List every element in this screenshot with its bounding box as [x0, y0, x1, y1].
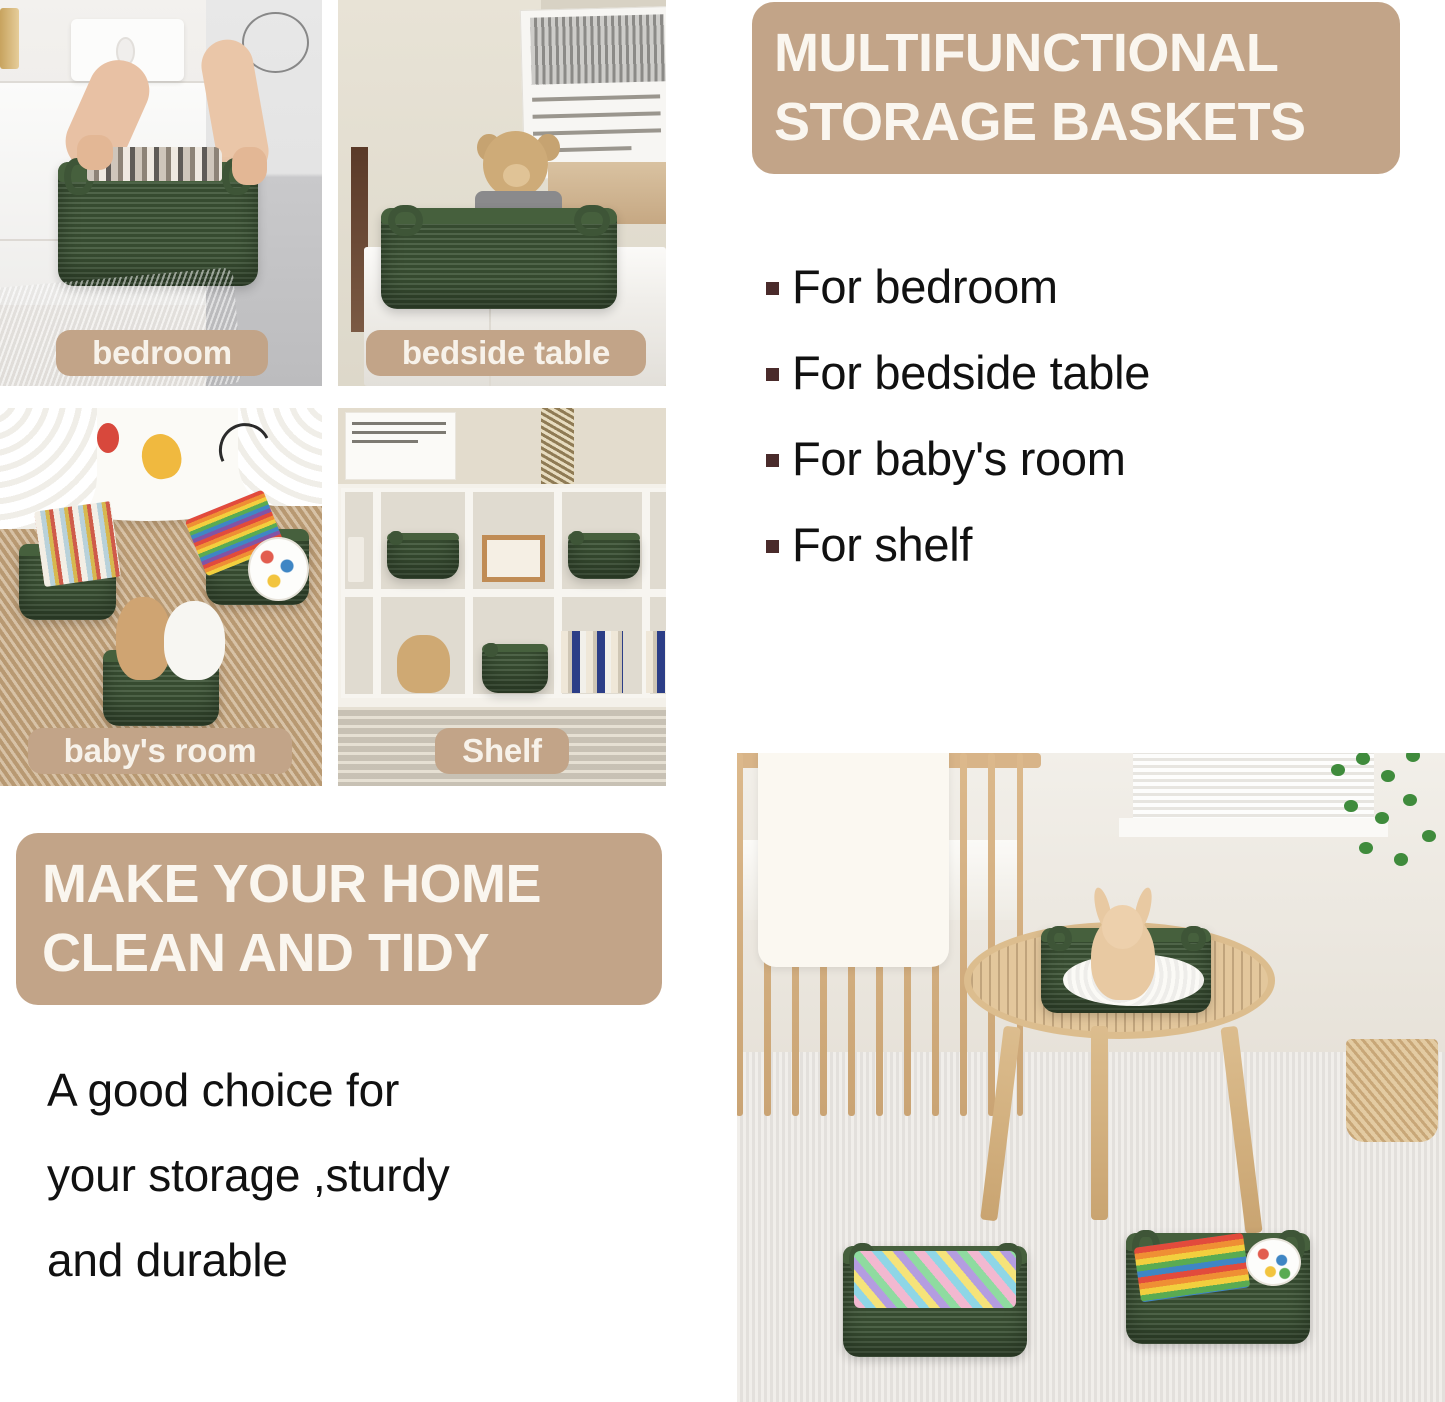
left-hand — [77, 135, 112, 170]
bullet-item-bedroom: For bedroom — [766, 243, 1406, 329]
secondary-heading-line-2: CLEAN AND TIDY — [42, 919, 636, 988]
bullet-label: For baby's room — [792, 435, 1126, 482]
photo-bedside-table — [338, 0, 666, 386]
basket-handle-right — [1181, 926, 1206, 951]
basket-handle-left — [484, 643, 498, 658]
caption-shelf: Shelf — [435, 728, 569, 774]
decorative-vase — [541, 408, 574, 484]
bullet-item-shelf: For shelf — [766, 501, 1406, 587]
plant-leaf — [1331, 764, 1345, 777]
infographic-page: bedroom — [0, 0, 1445, 1402]
secondary-heading-banner: MAKE YOUR HOME CLEAN AND TIDY — [16, 833, 662, 1005]
potted-plant — [1303, 753, 1445, 1039]
basket-handle-right — [574, 205, 609, 235]
photo-bedroom — [0, 0, 322, 386]
shelf-cube — [341, 593, 377, 698]
bullet-label: For bedroom — [792, 263, 1058, 310]
plant-leaf — [1375, 812, 1389, 825]
woven-plant-pot — [1346, 1039, 1438, 1143]
plant-leaf — [1359, 842, 1373, 855]
plush-bunny — [1091, 889, 1155, 999]
poster-text-line — [352, 422, 446, 425]
plant-leaf — [1344, 800, 1358, 813]
plant-leaf — [1394, 853, 1408, 866]
reed-diffuser — [348, 537, 364, 582]
plant-leaf — [1406, 753, 1420, 762]
basket-handle-left — [1047, 926, 1072, 951]
bear-muzzle — [503, 164, 531, 187]
green-storage-basket — [387, 533, 459, 580]
picture-books — [34, 501, 121, 587]
hero-scene — [737, 753, 1445, 1402]
main-heading-line-1: MULTIFUNCTIONAL — [774, 19, 1378, 88]
basket-handle-left — [388, 205, 423, 235]
bullet-item-bedside-table: For bedside table — [766, 329, 1406, 415]
book-row — [646, 631, 666, 693]
tambourine-toy — [1246, 1238, 1301, 1287]
plant-leaf — [1356, 753, 1370, 765]
paragraph-line-2: your storage ,sturdy — [47, 1133, 647, 1218]
description-paragraph: A good choice for your storage ,sturdy a… — [47, 1048, 647, 1303]
poster-text-line — [532, 94, 660, 101]
crib-slat — [988, 753, 995, 1116]
square-bullet-icon — [766, 454, 779, 467]
bullet-label: For bedside table — [792, 349, 1150, 396]
picture-frame — [482, 535, 544, 582]
feature-bullet-list: For bedroom For bedside table For baby's… — [766, 243, 1406, 587]
poster-text-line — [352, 440, 418, 443]
square-bullet-icon — [766, 368, 779, 381]
green-storage-basket — [381, 208, 617, 308]
caption-bedroom: bedroom — [56, 330, 268, 376]
plant-leaf — [1422, 830, 1436, 843]
plush-bear — [116, 597, 171, 680]
green-basket-magnetic-tiles — [843, 1246, 1027, 1356]
teddy-bear — [397, 635, 449, 693]
basket-handle-left — [570, 531, 584, 545]
photo-bedside-scene — [338, 0, 666, 386]
caption-babys-room: baby's room — [28, 728, 292, 774]
crib-slat — [737, 753, 743, 1116]
bunny-head — [1102, 905, 1143, 949]
shelf-cube — [646, 488, 666, 593]
wall-poster — [345, 412, 457, 480]
bullet-label: For shelf — [792, 521, 972, 568]
secondary-heading-line-1: MAKE YOUR HOME — [42, 850, 636, 919]
poster-text-line — [352, 431, 446, 434]
green-storage-basket — [482, 644, 548, 693]
photo-bedroom-scene — [0, 0, 322, 386]
right-hand — [232, 147, 267, 186]
book-row — [561, 631, 623, 693]
caption-bedside-table: bedside table — [366, 330, 646, 376]
crib-slat — [960, 753, 967, 1116]
paragraph-line-3: and durable — [47, 1218, 647, 1303]
table-leg — [1091, 1026, 1108, 1221]
main-heading-banner: MULTIFUNCTIONAL STORAGE BASKETS — [752, 2, 1400, 174]
green-storage-basket — [568, 533, 640, 580]
tambourine-toy — [248, 537, 309, 601]
bullet-item-babys-room: For baby's room — [766, 415, 1406, 501]
square-bullet-icon — [766, 282, 779, 295]
poster-image — [530, 14, 666, 85]
baby-onesie — [758, 753, 949, 967]
plant-leaf — [1403, 794, 1417, 807]
plush-white-bear — [164, 601, 225, 680]
paragraph-line-1: A good choice for — [47, 1048, 647, 1133]
poster-text-line — [532, 111, 660, 118]
square-bullet-icon — [766, 540, 779, 553]
green-basket-instruments — [1126, 1233, 1310, 1343]
magnetic-tiles-toys — [854, 1251, 1016, 1308]
plant-leaf — [1381, 770, 1395, 783]
gold-lamp-base — [0, 8, 19, 70]
cube-shelf-unit — [338, 484, 666, 707]
main-heading-line-2: STORAGE BASKETS — [774, 88, 1378, 157]
hero-photo-nursery — [737, 753, 1445, 1402]
